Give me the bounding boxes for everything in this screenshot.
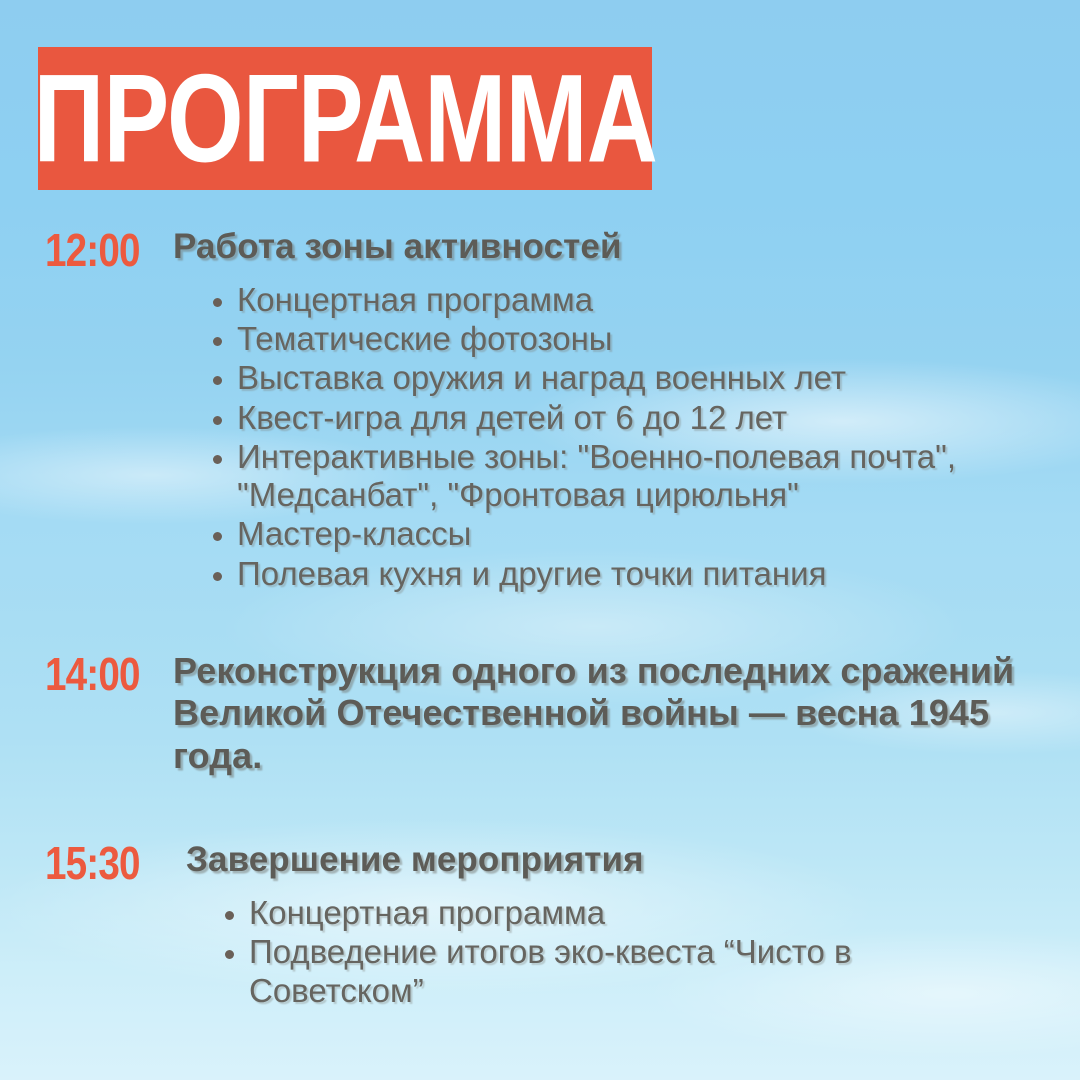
- schedule-block-1200: 12:00 Работа зоны активностей Концертная…: [0, 226, 1080, 593]
- list-item: Квест-игра для детей от 6 до 12 лет: [189, 399, 997, 437]
- list-item: Концертная программа: [201, 894, 1009, 932]
- schedule-list: 12:00 Работа зоны активностей Концертная…: [0, 226, 1080, 1011]
- time-label: 14:00: [45, 650, 153, 699]
- schedule-block-1400: 14:00 Реконструкция одного из последних …: [0, 650, 1080, 777]
- program-poster: ПРОГРАММА 12:00 Работа зоны активностей …: [0, 0, 1080, 1080]
- schedule-header: 12:00 Работа зоны активностей: [45, 226, 1080, 275]
- schedule-block-1530: 15:30 Завершение мероприятия Концертная …: [0, 839, 1080, 1010]
- time-label: 15:30: [45, 839, 153, 888]
- schedule-header: 15:30 Завершение мероприятия: [45, 839, 1080, 888]
- section-gap: [0, 594, 1080, 650]
- list-item: Интерактивные зоны: "Военно-полевая почт…: [189, 438, 997, 515]
- activity-bullet-list: Концертная программа Тематические фотозо…: [189, 281, 1080, 593]
- schedule-header: 14:00 Реконструкция одного из последних …: [45, 650, 1080, 777]
- list-item: Подведение итогов эко-квеста “Чисто в Со…: [201, 933, 1009, 1010]
- title-banner: ПРОГРАММА: [38, 47, 652, 190]
- list-item: Выставка оружия и наград военных лет: [189, 359, 997, 397]
- time-label: 12:00: [45, 226, 153, 275]
- activity-title: Завершение мероприятия: [186, 839, 644, 880]
- list-item: Полевая кухня и другие точки питания: [189, 555, 997, 593]
- activity-title: Работа зоны активностей: [173, 226, 622, 267]
- activity-title: Реконструкция одного из последних сражен…: [173, 650, 1033, 777]
- activity-bullet-list: Концертная программа Подведение итогов э…: [201, 894, 1080, 1010]
- list-item: Концертная программа: [189, 281, 997, 319]
- page-title: ПРОГРАММА: [33, 56, 657, 181]
- list-item: Тематические фотозоны: [189, 320, 997, 358]
- section-gap: [0, 777, 1080, 839]
- list-item: Мастер-классы: [189, 515, 997, 553]
